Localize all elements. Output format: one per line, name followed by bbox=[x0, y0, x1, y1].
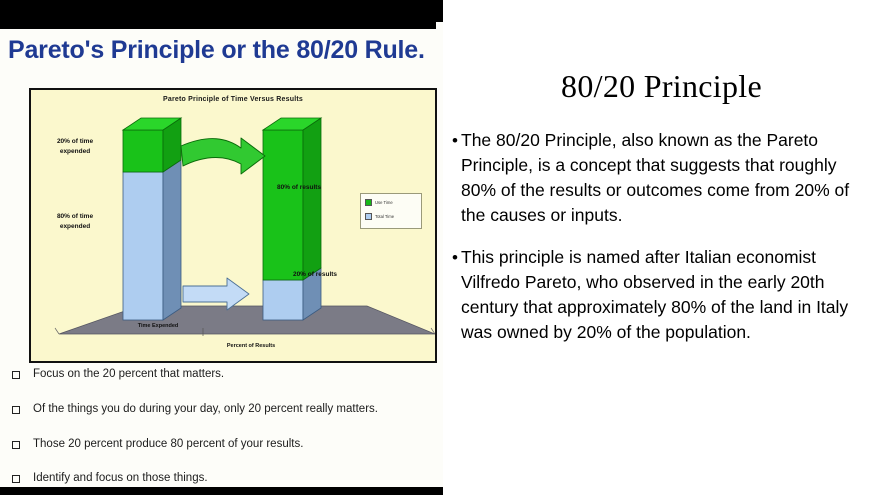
legend-swatch-icon-blue bbox=[365, 213, 372, 220]
page-title: 80/20 Principle bbox=[443, 68, 880, 105]
legend-entry-total-time: Total Time bbox=[365, 213, 417, 220]
checkbox-icon bbox=[12, 441, 20, 449]
list-item-label: Of the things you do during your day, on… bbox=[33, 403, 378, 417]
image-checklist: Focus on the 20 percent that matters. Of… bbox=[0, 368, 443, 495]
list-item: Focus on the 20 percent that matters. bbox=[0, 368, 443, 382]
list-item: • This principle is named after Italian … bbox=[449, 245, 855, 345]
bullet-marker-icon: • bbox=[449, 128, 461, 153]
chart-legend: Use Time Total Time bbox=[360, 193, 422, 229]
checkbox-icon bbox=[12, 406, 20, 414]
list-item: Of the things you do during your day, on… bbox=[0, 403, 443, 417]
image-bottom-black-bar bbox=[0, 487, 443, 495]
image-top-black-bar bbox=[0, 0, 436, 29]
slide-bullet-list: • The 80/20 Principle, also known as the… bbox=[449, 128, 855, 362]
checkbox-icon bbox=[12, 475, 20, 483]
slide-text-panel: 80/20 Principle • The 80/20 Principle, a… bbox=[443, 0, 880, 495]
list-item-label: Identify and focus on those things. bbox=[33, 472, 208, 486]
list-item-label: The 80/20 Principle, also known as the P… bbox=[461, 128, 855, 228]
legend-entry-use-time: Use Time bbox=[365, 199, 417, 206]
legend-swatch-icon-green bbox=[365, 199, 372, 206]
image-heading: Pareto's Principle or the 80/20 Rule. bbox=[8, 36, 438, 65]
checkbox-icon bbox=[12, 371, 20, 379]
chart-category-label-time: Time Expended bbox=[123, 322, 193, 331]
chart-annotation-20-time: 20% of time expended bbox=[43, 137, 107, 157]
legend-label-use-time: Use Time bbox=[375, 200, 393, 205]
pasted-image-panel: Pareto's Principle or the 80/20 Rule. Pa… bbox=[0, 0, 443, 495]
chart-annotation-80-time: 80% of time expended bbox=[43, 212, 107, 232]
list-item-label: This principle is named after Italian ec… bbox=[461, 245, 855, 345]
chart-category-label-results: Percent of Results bbox=[211, 342, 291, 351]
chart-annotation-80-results: 80% of results bbox=[277, 183, 347, 193]
slide: Pareto's Principle or the 80/20 Rule. Pa… bbox=[0, 0, 880, 495]
list-item: Identify and focus on those things. bbox=[0, 472, 443, 486]
list-item-label: Those 20 percent produce 80 percent of y… bbox=[33, 438, 303, 452]
list-item: Those 20 percent produce 80 percent of y… bbox=[0, 438, 443, 452]
bullet-marker-icon: • bbox=[449, 245, 461, 270]
list-item: • The 80/20 Principle, also known as the… bbox=[449, 128, 855, 228]
chart-annotation-20-results: 20% of results bbox=[287, 270, 343, 280]
pareto-chart: Pareto Principle of Time Versus Results bbox=[29, 88, 437, 363]
legend-label-total-time: Total Time bbox=[375, 214, 394, 219]
image-top-black-bar-notch bbox=[436, 0, 443, 22]
list-item-label: Focus on the 20 percent that matters. bbox=[33, 368, 224, 382]
